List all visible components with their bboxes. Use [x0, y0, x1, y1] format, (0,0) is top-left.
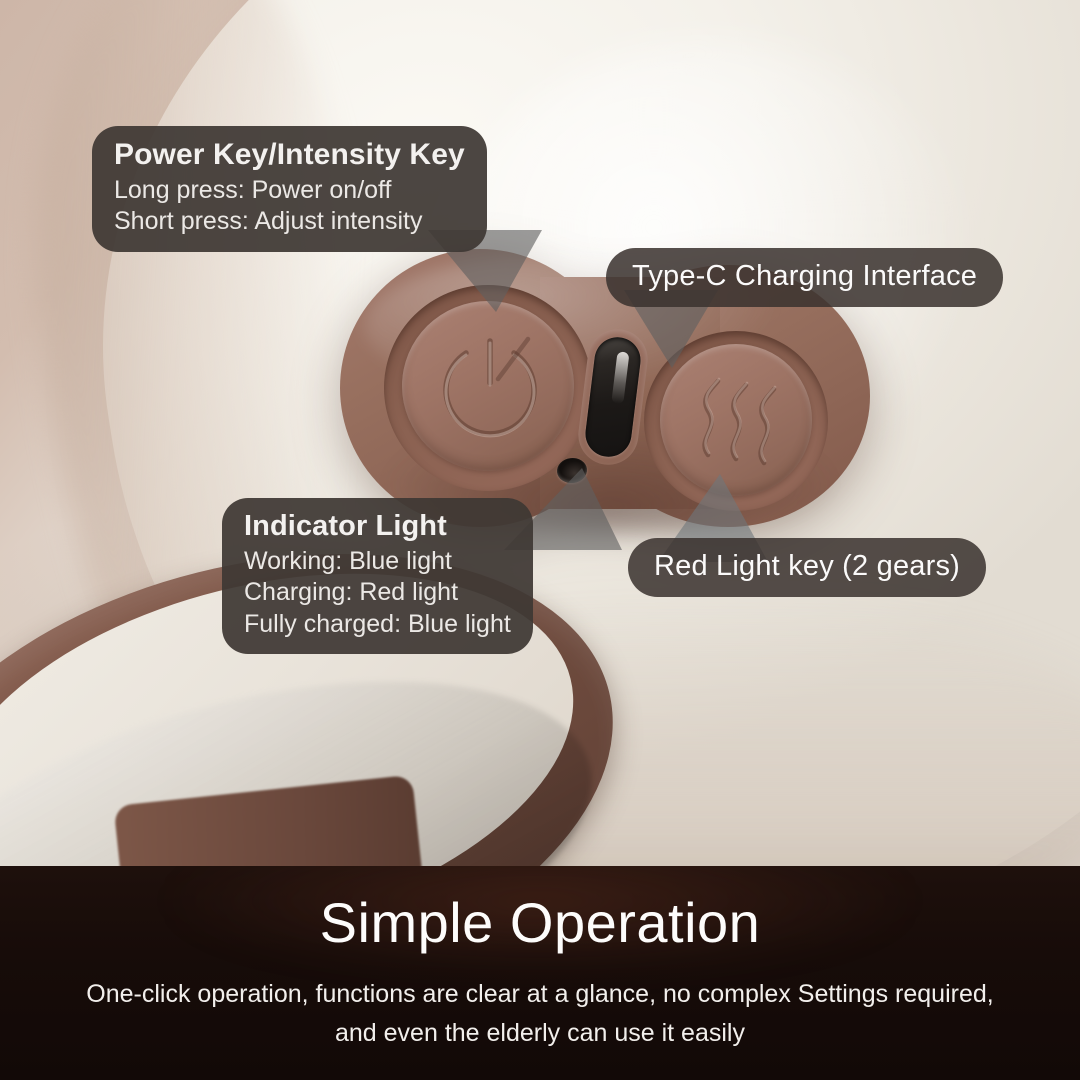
- callout-power-key: Power Key/Intensity Key Long press: Powe…: [92, 126, 487, 252]
- callout-power-line-2: Short press: Adjust intensity: [114, 206, 465, 238]
- banner-subtitle-line-1: One-click operation, functions are clear…: [0, 975, 1080, 1014]
- banner-title: Simple Operation: [0, 890, 1080, 955]
- callout-power-title: Power Key/Intensity Key: [114, 136, 465, 174]
- callout-red-light-key: Red Light key (2 gears): [628, 538, 986, 597]
- callout-indicator-light: Indicator Light Working: Blue light Char…: [222, 498, 533, 654]
- product-photo: Power Key/Intensity Key Long press: Powe…: [0, 0, 1080, 866]
- product-feature-image: Power Key/Intensity Key Long press: Powe…: [0, 0, 1080, 1080]
- bottom-banner: Simple Operation One-click operation, fu…: [0, 866, 1080, 1080]
- banner-subtitle: One-click operation, functions are clear…: [0, 975, 1080, 1053]
- callout-power-line-1: Long press: Power on/off: [114, 175, 465, 207]
- red-light-button[interactable]: [660, 344, 812, 496]
- callout-type-c: Type-C Charging Interface: [606, 248, 1003, 307]
- power-button[interactable]: [402, 301, 574, 471]
- usb-c-port-highlight: [611, 351, 629, 404]
- callout-indicator-line-1: Working: Blue light: [244, 546, 511, 578]
- callout-indicator-title: Indicator Light: [244, 508, 511, 545]
- banner-subtitle-line-2: and even the elderly can use it easily: [0, 1014, 1080, 1053]
- callout-indicator-line-3: Fully charged: Blue light: [244, 609, 511, 641]
- callout-indicator-line-2: Charging: Red light: [244, 577, 511, 609]
- usb-c-port-icon[interactable]: [583, 335, 643, 460]
